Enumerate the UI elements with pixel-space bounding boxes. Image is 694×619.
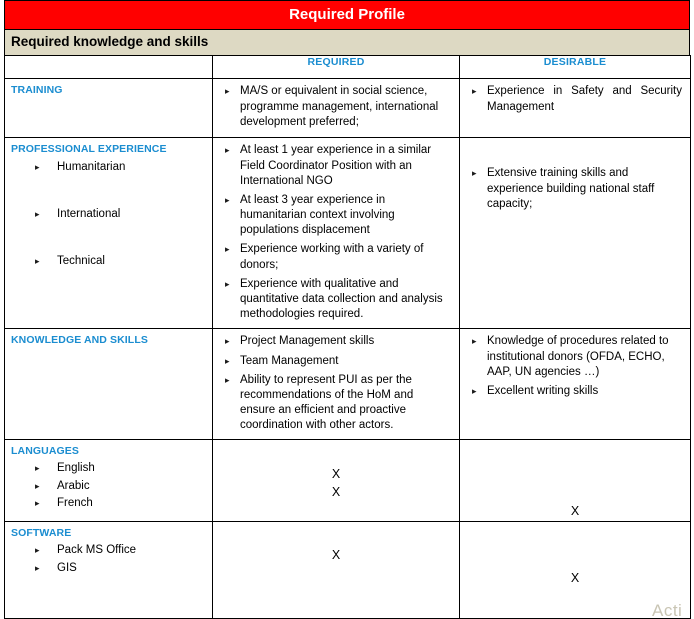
mark-cell: X	[213, 465, 459, 483]
list-item: ▸ Team Management	[225, 354, 451, 369]
list-item-text: Experience with qualitative and quantita…	[240, 278, 443, 320]
list-item-text: MA/S or equivalent in social science, pr…	[240, 85, 438, 127]
list-item: ▸ Project Management skills	[225, 334, 451, 349]
list-item-text: Team Management	[240, 355, 338, 367]
table-header-row: REQUIRED DESIRABLE	[5, 56, 691, 79]
list-item-text: At least 1 year experience in a similar …	[240, 144, 431, 186]
triangle-bullet-icon: ▸	[225, 84, 230, 99]
required-profile-document: Required Profile Required knowledge and …	[4, 0, 690, 619]
desirable-marks-languages: X	[460, 440, 690, 520]
triangle-bullet-icon: ▸	[225, 354, 230, 369]
category-sub-list: ▸ Pack MS Office ▸ GIS	[5, 542, 212, 577]
triangle-bullet-icon: ▸	[225, 193, 230, 208]
triangle-bullet-icon: ▸	[225, 334, 230, 349]
row-desirable-cell-knowledge-and-skills: ▸ Knowledge of procedures related to ins…	[460, 329, 691, 440]
category-label: LANGUAGES	[5, 440, 212, 460]
list-item-text: Experience in Safety and Security Manage…	[487, 85, 682, 112]
desirable-bullet-list: ▸ Experience in Safety and Security Mana…	[460, 79, 690, 120]
mark-cell: X	[213, 483, 459, 501]
sub-item-label: GIS	[57, 562, 77, 574]
document-title-bar: Required Profile	[4, 0, 690, 29]
list-item: ▸ Extensive training skills and experien…	[472, 166, 682, 212]
required-bullet-list: ▸ At least 1 year experience in a simila…	[213, 138, 459, 328]
triangle-bullet-icon: ▸	[35, 460, 40, 477]
desirable-marks-software: X	[460, 522, 690, 587]
row-category-cell-training: TRAINING	[5, 79, 213, 138]
list-item-text: Project Management skills	[240, 335, 374, 347]
triangle-bullet-icon: ▸	[225, 277, 230, 292]
triangle-bullet-icon: ▸	[35, 560, 40, 577]
column-header-required: REQUIRED	[213, 56, 460, 79]
list-item: ▸ Arabic	[35, 478, 212, 495]
row-category-cell-languages: LANGUAGES ▸ English ▸ Arabic ▸ French	[5, 440, 213, 522]
triangle-bullet-icon: ▸	[472, 84, 477, 99]
list-item: ▸ Experience working with a variety of d…	[225, 242, 451, 272]
sub-item-label: French	[57, 497, 93, 509]
list-item: ▸ Humanitarian	[35, 159, 212, 176]
list-item: ▸ French	[35, 495, 212, 512]
category-label: TRAINING	[5, 79, 212, 99]
row-required-cell-software: X	[213, 522, 460, 619]
row-desirable-cell-professional-experience: ▸ Extensive training skills and experien…	[460, 138, 691, 329]
row-required-cell-knowledge-and-skills: ▸ Project Management skills ▸ Team Manag…	[213, 329, 460, 440]
triangle-bullet-icon: ▸	[35, 495, 40, 512]
category-label: PROFESSIONAL EXPERIENCE	[5, 138, 212, 158]
row-desirable-cell-languages: X	[460, 440, 691, 522]
list-item: ▸ Ability to represent PUI as per the re…	[225, 373, 451, 434]
row-required-cell-training: ▸ MA/S or equivalent in social science, …	[213, 79, 460, 138]
list-item: ▸ Knowledge of procedures related to ins…	[472, 334, 682, 380]
activation-watermark: Acti	[652, 601, 688, 619]
list-item: ▸ Experience with qualitative and quanti…	[225, 277, 451, 323]
desirable-bullet-list: ▸ Knowledge of procedures related to ins…	[460, 329, 690, 405]
mark-cell: X	[213, 546, 459, 564]
list-item: ▸ English	[35, 460, 212, 477]
sub-item-label: Technical	[57, 255, 105, 267]
required-bullet-list: ▸ Project Management skills ▸ Team Manag…	[213, 329, 459, 439]
list-item-text: Knowledge of procedures related to insti…	[487, 335, 669, 377]
list-item-text: At least 3 year experience in humanitari…	[240, 194, 395, 236]
list-item-text: Extensive training skills and experience…	[487, 167, 654, 209]
list-item: ▸ Experience in Safety and Security Mana…	[472, 84, 682, 114]
column-header-blank	[5, 56, 213, 79]
triangle-bullet-icon: ▸	[35, 542, 40, 559]
mark-cell: X	[460, 502, 690, 520]
required-marks-languages: X X	[213, 440, 459, 519]
row-required-cell-professional-experience: ▸ At least 1 year experience in a simila…	[213, 138, 460, 329]
row-category-cell-knowledge-and-skills: KNOWLEDGE AND SKILLS	[5, 329, 213, 440]
section-header: Required knowledge and skills	[4, 29, 690, 55]
sub-item-label: International	[57, 208, 120, 220]
list-item: ▸ At least 3 year experience in humanita…	[225, 193, 451, 239]
list-item: ▸ GIS	[35, 560, 212, 577]
list-item-text: Excellent writing skills	[487, 385, 598, 397]
triangle-bullet-icon: ▸	[225, 143, 230, 158]
list-item: ▸ Pack MS Office	[35, 542, 212, 559]
table-row: TRAINING ▸ MA/S or equivalent in social …	[5, 79, 691, 138]
sub-item-label: Pack MS Office	[57, 544, 136, 556]
profile-table: REQUIRED DESIRABLE TRAINING ▸ MA/S or eq…	[4, 55, 691, 619]
list-item-text: Ability to represent PUI as per the reco…	[240, 374, 413, 432]
triangle-bullet-icon: ▸	[35, 206, 40, 223]
category-sub-list: ▸ Humanitarian ▸ International ▸ Technic…	[5, 159, 212, 271]
list-item: ▸ At least 1 year experience in a simila…	[225, 143, 451, 189]
triangle-bullet-icon: ▸	[472, 384, 477, 399]
triangle-bullet-icon: ▸	[472, 334, 477, 349]
triangle-bullet-icon: ▸	[35, 253, 40, 270]
table-row: LANGUAGES ▸ English ▸ Arabic ▸ French	[5, 440, 691, 522]
required-bullet-list: ▸ MA/S or equivalent in social science, …	[213, 79, 459, 136]
table-row: KNOWLEDGE AND SKILLS ▸ Project Managemen…	[5, 329, 691, 440]
triangle-bullet-icon: ▸	[225, 242, 230, 257]
table-row: PROFESSIONAL EXPERIENCE ▸ Humanitarian ▸…	[5, 138, 691, 329]
row-desirable-cell-training: ▸ Experience in Safety and Security Mana…	[460, 79, 691, 138]
sub-item-label: Arabic	[57, 480, 90, 492]
row-category-cell-software: SOFTWARE ▸ Pack MS Office ▸ GIS	[5, 522, 213, 619]
list-item: ▸ Technical	[35, 253, 212, 270]
list-item-text: Experience working with a variety of don…	[240, 243, 423, 270]
category-sub-list: ▸ English ▸ Arabic ▸ French	[5, 460, 212, 512]
table-row: SOFTWARE ▸ Pack MS Office ▸ GIS	[5, 522, 691, 619]
category-label: SOFTWARE	[5, 522, 212, 542]
list-item: ▸ Excellent writing skills	[472, 384, 682, 399]
triangle-bullet-icon: ▸	[225, 373, 230, 388]
column-header-desirable: DESIRABLE	[460, 56, 691, 79]
required-marks-software: X	[213, 522, 459, 564]
desirable-bullet-list: ▸ Extensive training skills and experien…	[460, 138, 690, 218]
triangle-bullet-icon: ▸	[35, 478, 40, 495]
triangle-bullet-icon: ▸	[35, 159, 40, 176]
row-required-cell-languages: X X	[213, 440, 460, 522]
mark-cell: X	[460, 569, 690, 587]
list-item: ▸ International	[35, 206, 212, 223]
triangle-bullet-icon: ▸	[472, 166, 477, 181]
mark-cell	[213, 501, 459, 519]
list-item: ▸ MA/S or equivalent in social science, …	[225, 84, 451, 130]
sub-item-label: English	[57, 462, 95, 474]
row-category-cell-professional-experience: PROFESSIONAL EXPERIENCE ▸ Humanitarian ▸…	[5, 138, 213, 329]
category-label: KNOWLEDGE AND SKILLS	[5, 329, 212, 349]
sub-item-label: Humanitarian	[57, 161, 125, 173]
